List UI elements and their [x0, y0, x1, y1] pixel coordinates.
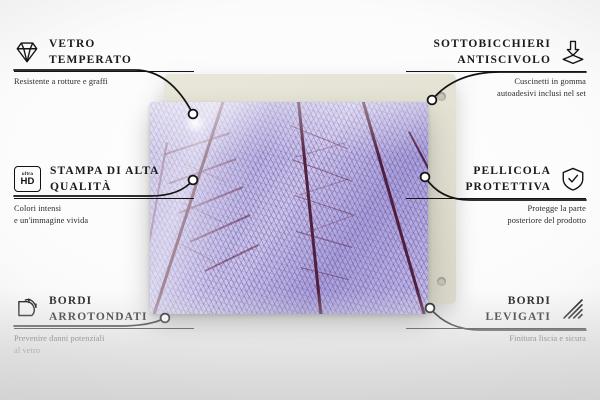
feature-header: ultra HD STAMPA DI ALTA QUALITÀ [14, 163, 194, 196]
feature-sottobicchieri-antiscivolo: SOTTOBICCHIERI ANTISCIVOLO Cuscinetti in… [406, 36, 586, 101]
divider [406, 198, 586, 200]
divider [406, 71, 586, 73]
divider [14, 328, 194, 330]
rounded-corner-icon [14, 296, 40, 322]
feature-vetro-temperato: VETRO TEMPERATO Resistente a rotture e g… [14, 36, 194, 88]
feature-header: BORDI ARROTONDATI [14, 293, 194, 326]
feature-subtitle: Colori intensi e un'immagine vivida [14, 203, 194, 227]
feature-header: VETRO TEMPERATO [14, 36, 194, 69]
ultra-hd-icon: ultra HD [14, 166, 41, 192]
polished-edge-icon [560, 296, 586, 322]
feature-title: PELLICOLA PROTETTIVA [406, 163, 551, 196]
diamond-icon [14, 39, 40, 65]
feature-subtitle: Resistente a rotture e graffi [14, 76, 194, 88]
feature-subtitle: Prevenire danni potenziali al vetro [14, 333, 194, 357]
divider [14, 198, 194, 200]
feature-header: BORDI LEVIGATI [406, 293, 586, 326]
feature-header: SOTTOBICCHIERI ANTISCIVOLO [406, 36, 586, 69]
feature-pellicola-protettiva: PELLICOLA PROTETTIVA Protegge la parte p… [406, 163, 586, 228]
feature-title: SOTTOBICCHIERI ANTISCIVOLO [406, 36, 551, 69]
feature-stampa-alta-qualita: ultra HD STAMPA DI ALTA QUALITÀ Colori i… [14, 163, 194, 228]
divider [406, 328, 586, 330]
feature-bordi-arrotondati: BORDI ARROTONDATI Prevenire danni potenz… [14, 293, 194, 358]
mounting-hole-bottom [437, 277, 446, 286]
feature-title: BORDI ARROTONDATI [49, 293, 148, 326]
feature-bordi-levigati: BORDI LEVIGATI Finitura liscia e sicura [406, 293, 586, 345]
feature-header: PELLICOLA PROTETTIVA [406, 163, 586, 196]
anti-slip-pad-icon [560, 39, 586, 65]
feature-subtitle: Protegge la parte posteriore del prodott… [406, 203, 586, 227]
feature-title: VETRO TEMPERATO [49, 36, 132, 69]
feature-title: STAMPA DI ALTA QUALITÀ [50, 163, 160, 196]
feature-subtitle: Finitura liscia e sicura [406, 333, 586, 345]
divider [14, 71, 194, 73]
feature-title: BORDI LEVIGATI [406, 293, 551, 326]
product-image [150, 88, 450, 326]
infographic-stage: VETRO TEMPERATO Resistente a rotture e g… [0, 0, 600, 400]
feature-subtitle: Cuscinetti in gomma autoadesivi inclusi … [406, 76, 586, 100]
shield-check-icon [560, 166, 586, 192]
